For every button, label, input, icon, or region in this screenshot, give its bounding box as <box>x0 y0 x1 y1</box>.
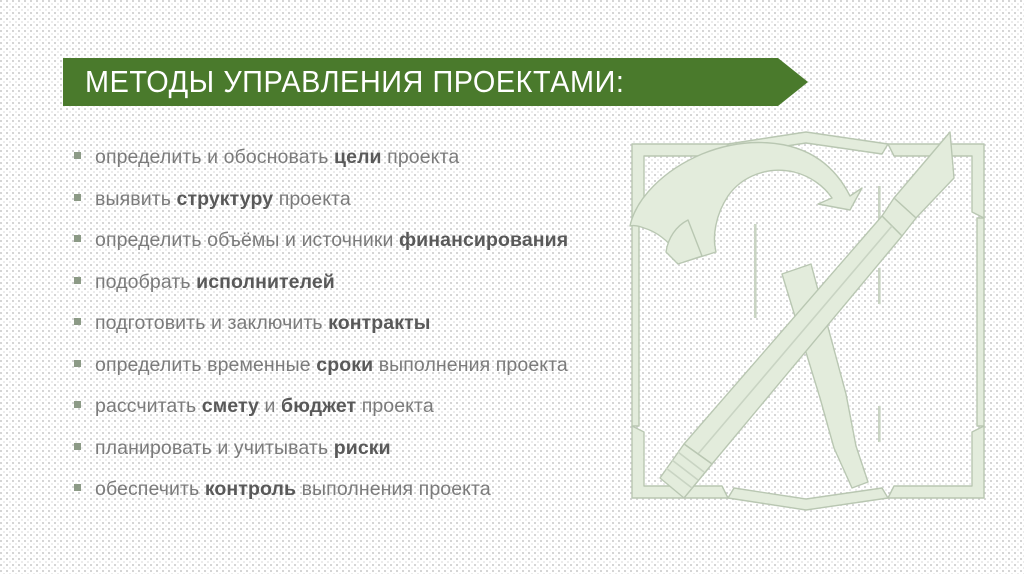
square-bullet-icon <box>74 235 81 242</box>
frame-corner-bottom-right <box>888 426 984 498</box>
list-item-text: определить и обосновать цели проекта <box>95 146 459 169</box>
square-bullet-icon <box>74 318 81 325</box>
square-bullet-icon <box>74 401 81 408</box>
list-item: подготовить и заключить контракты <box>74 312 634 354</box>
list-item: обеспечить контроль выполнения проекта <box>74 478 634 520</box>
list-item: рассчитать смету и бюджет проекта <box>74 395 634 437</box>
list-item: определить временные сроки выполнения пр… <box>74 354 634 396</box>
list-item-text: подобрать исполнителей <box>95 271 335 294</box>
square-bullet-icon <box>74 194 81 201</box>
list-item: определить и обосновать цели проекта <box>74 146 634 188</box>
hammer-and-pencil-illustration <box>606 126 1006 516</box>
square-bullet-icon <box>74 152 81 159</box>
list-item-text: определить временные сроки выполнения пр… <box>95 354 568 377</box>
list-item-text: подготовить и заключить контракты <box>95 312 431 335</box>
list-item: выявить структуру проекта <box>74 188 634 230</box>
square-bullet-icon <box>74 443 81 450</box>
list-item: подобрать исполнителей <box>74 271 634 313</box>
square-bullet-icon <box>74 484 81 491</box>
methods-bullet-list: определить и обосновать цели проекта выя… <box>74 146 634 520</box>
list-item: планировать и учитывать риски <box>74 437 634 479</box>
list-item: определить объёмы и источники финансиров… <box>74 229 634 271</box>
list-item-text: планировать и учитывать риски <box>95 437 391 460</box>
list-item-text: рассчитать смету и бюджет проекта <box>95 395 434 418</box>
title-banner: Методы управления проектами: <box>63 58 808 106</box>
slide-canvas: Методы управления проектами: определить … <box>0 0 1024 574</box>
square-bullet-icon <box>74 360 81 367</box>
list-item-text: определить объёмы и источники финансиров… <box>95 229 568 252</box>
list-item-text: обеспечить контроль выполнения проекта <box>95 478 491 501</box>
page-title: Методы управления проектами: <box>85 58 624 106</box>
square-bullet-icon <box>74 277 81 284</box>
list-item-text: выявить структуру проекта <box>95 188 351 211</box>
